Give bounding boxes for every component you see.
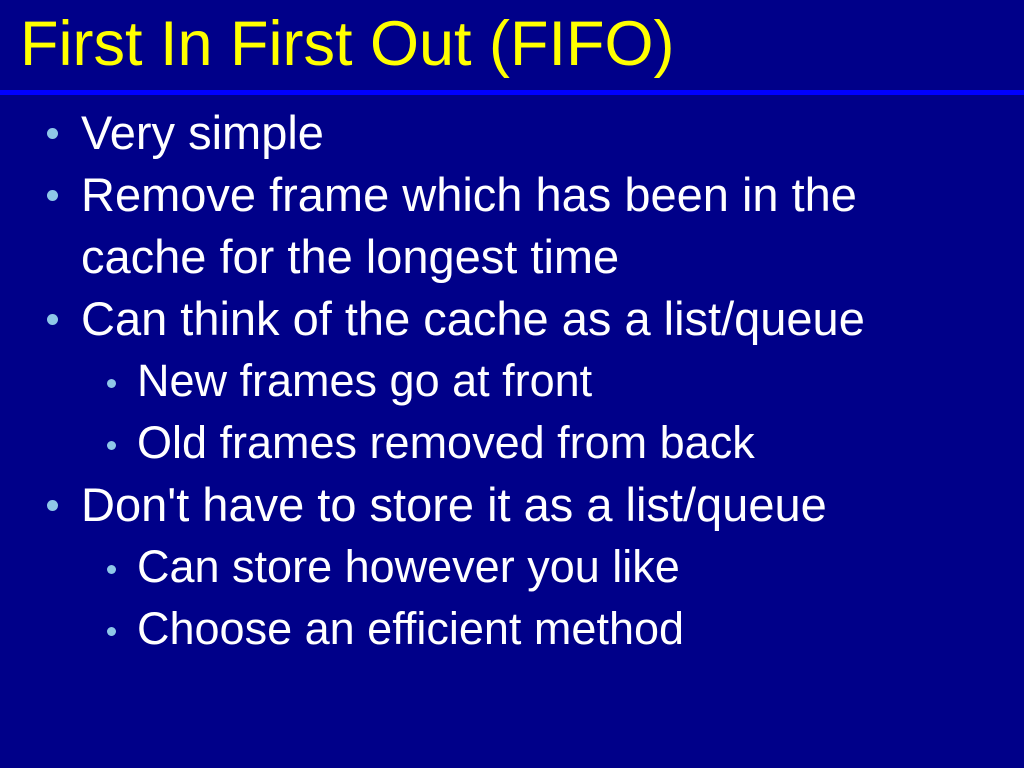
sub-list-item-label: Old frames removed from back xyxy=(137,412,755,474)
sub-list-item: Choose an efficient method xyxy=(0,598,1024,660)
slide-body-list: Very simple Remove frame which has been … xyxy=(0,102,1024,660)
presentation-slide: First In First Out (FIFO) Very simple Re… xyxy=(0,0,1024,768)
bullet-dot-icon xyxy=(47,314,58,325)
sub-list-item-label: Can store however you like xyxy=(137,536,680,598)
list-item-label: cache for the longest time xyxy=(81,226,619,288)
sub-list-item: Can store however you like xyxy=(0,536,1024,598)
bullet-dot-icon xyxy=(107,627,116,636)
bullet-dot-icon xyxy=(47,500,58,511)
list-item: Can think of the cache as a list/queue xyxy=(0,288,1024,350)
list-item: Very simple xyxy=(0,102,1024,164)
list-item-label: Don't have to store it as a list/queue xyxy=(81,474,827,536)
list-item-label: Very simple xyxy=(81,102,324,164)
bullet-dot-icon xyxy=(107,565,116,574)
slide-title-bar: First In First Out (FIFO) xyxy=(0,0,1024,90)
title-divider xyxy=(0,90,1024,95)
sub-list-item-label: New frames go at front xyxy=(137,350,592,412)
list-item-continuation: cache for the longest time xyxy=(0,226,1024,288)
list-item-label: Remove frame which has been in the xyxy=(81,164,857,226)
bullet-dot-icon xyxy=(47,128,58,139)
bullet-dot-icon xyxy=(107,379,116,388)
bullet-dot-icon xyxy=(107,441,116,450)
list-item: Don't have to store it as a list/queue xyxy=(0,474,1024,536)
page-title: First In First Out (FIFO) xyxy=(20,2,674,86)
bullet-dot-icon xyxy=(47,190,58,201)
sub-list-item: New frames go at front xyxy=(0,350,1024,412)
sub-list-item-label: Choose an efficient method xyxy=(137,598,684,660)
sub-list-item: Old frames removed from back xyxy=(0,412,1024,474)
list-item: Remove frame which has been in the xyxy=(0,164,1024,226)
list-item-label: Can think of the cache as a list/queue xyxy=(81,288,865,350)
